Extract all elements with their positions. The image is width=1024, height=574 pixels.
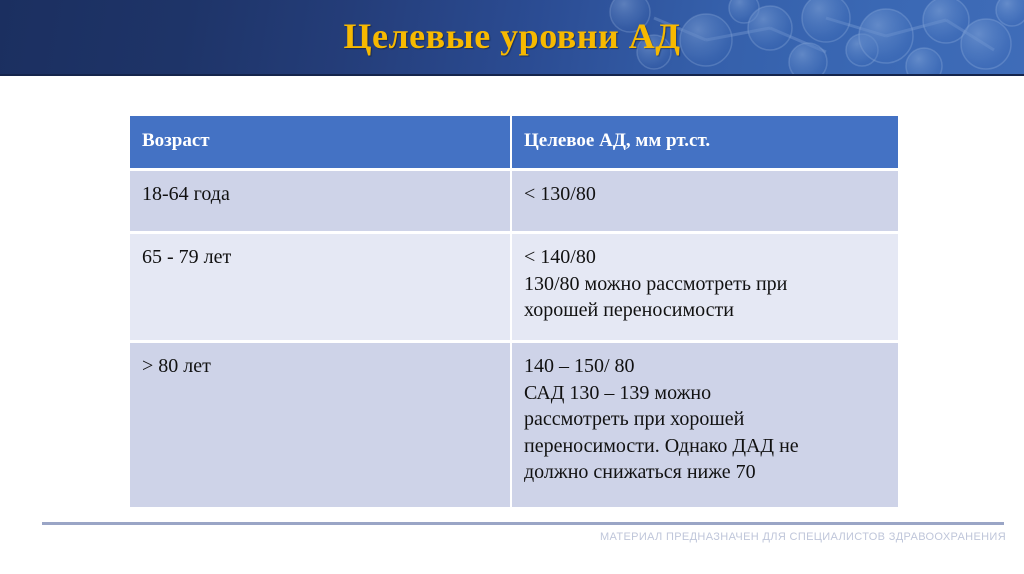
table-row: > 80 лет 140 – 150/ 80 САД 130 – 139 мож…	[130, 343, 898, 507]
cell-age: > 80 лет	[130, 343, 510, 507]
cell-target-bp: 140 – 150/ 80 САД 130 – 139 можно рассмо…	[512, 343, 898, 507]
value-line: САД 130 – 139 можно	[524, 380, 886, 407]
table-header-row: Возраст Целевое АД, мм рт.ст.	[130, 116, 898, 168]
cell-age: 65 - 79 лет	[130, 234, 510, 340]
cell-target-bp: < 130/80	[512, 171, 898, 231]
value-line: хорошей переносимости	[524, 297, 886, 324]
slide-header-banner: Целевые уровни АД	[0, 0, 1024, 76]
column-header-value: Целевое АД, мм рт.ст.	[512, 116, 898, 168]
value-line: < 130/80	[524, 181, 886, 208]
value-line: < 140/80	[524, 244, 886, 271]
value-line: 140 – 150/ 80	[524, 353, 886, 380]
cell-target-bp: < 140/80 130/80 можно рассмотреть при хо…	[512, 234, 898, 340]
value-line: рассмотреть при хорошей	[524, 406, 886, 433]
footer-divider	[42, 522, 1004, 525]
table-row: 18-64 года < 130/80	[130, 171, 898, 231]
value-line: 130/80 можно рассмотреть при	[524, 271, 886, 298]
value-line: переносимости. Однако ДАД не	[524, 433, 886, 460]
value-line: должно снижаться ниже 70	[524, 459, 886, 486]
target-bp-levels-table: Возраст Целевое АД, мм рт.ст. 18-64 года…	[128, 113, 900, 510]
page-title: Целевые уровни АД	[0, 0, 1024, 74]
table-row: 65 - 79 лет < 140/80 130/80 можно рассмо…	[130, 234, 898, 340]
footer-disclaimer: МАТЕРИАЛ ПРЕДНАЗНАЧЕН ДЛЯ СПЕЦИАЛИСТОВ З…	[0, 531, 1006, 543]
column-header-age: Возраст	[130, 116, 510, 168]
cell-age: 18-64 года	[130, 171, 510, 231]
